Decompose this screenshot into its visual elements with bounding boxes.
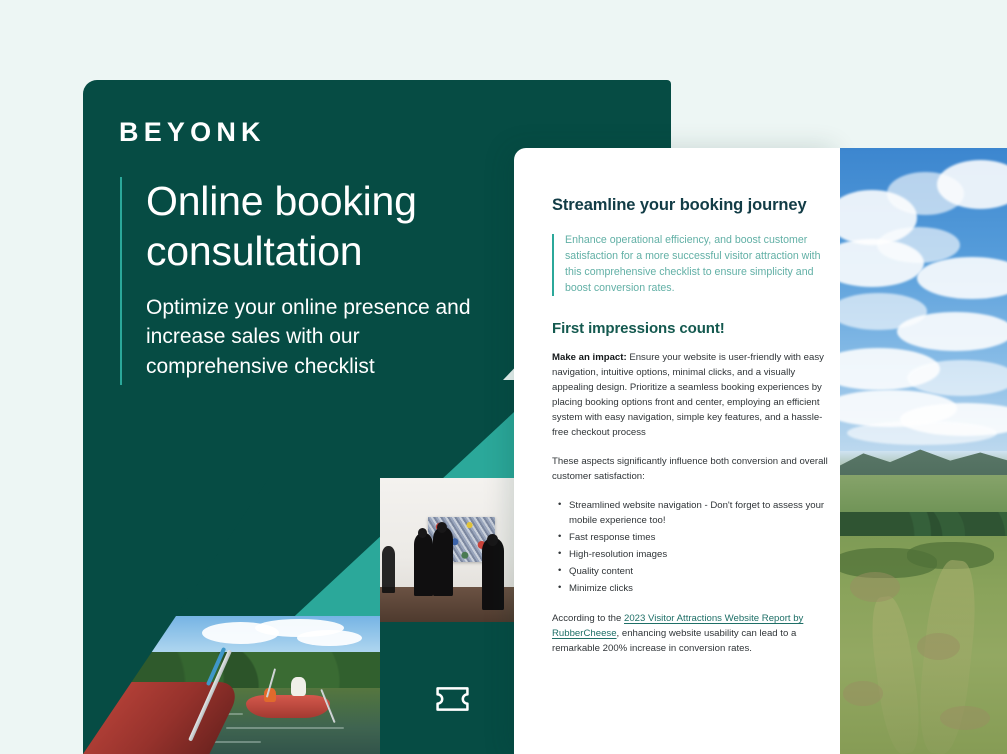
list-item: High-resolution images xyxy=(569,548,828,563)
page-title: Online booking consultation xyxy=(146,176,546,276)
benefits-list: Streamlined website navigation - Don't f… xyxy=(552,499,828,597)
document-content: Streamline your booking journey Enhance … xyxy=(552,194,828,671)
gallery-floor xyxy=(380,587,535,622)
dry-patch xyxy=(843,681,883,705)
dry-patch xyxy=(940,706,990,730)
screenshot-stage: BEYONK Online booking consultation Optim… xyxy=(0,0,1007,754)
dry-patch xyxy=(917,633,960,660)
quote-accent-bar xyxy=(552,234,554,296)
headline-accent-bar xyxy=(120,177,122,385)
water-ripple xyxy=(226,727,345,729)
gallery-visitor xyxy=(414,533,433,596)
gallery-visitor-head xyxy=(487,534,498,546)
citation-paragraph: According to the 2023 Visitor Attraction… xyxy=(552,612,828,657)
page-subtitle: Optimize your online presence and increa… xyxy=(146,293,506,381)
list-item: Streamlined website navigation - Don't f… xyxy=(569,499,828,529)
impact-paragraph: Make an impact: Ensure your website is u… xyxy=(552,351,828,441)
cloud-shape xyxy=(897,312,1007,351)
cloud-shape xyxy=(847,421,997,445)
beyonk-logo: BEYONK xyxy=(119,119,266,146)
gallery-visitor xyxy=(433,527,453,596)
far-canoe xyxy=(246,695,329,718)
gallery-visitor xyxy=(482,538,504,610)
gallery-visitor xyxy=(382,546,396,594)
document-heading: Streamline your booking journey xyxy=(552,194,828,218)
citation-prefix: According to the xyxy=(552,613,624,624)
ticket-icon xyxy=(435,686,470,712)
document-preview-panel: Streamline your booking journey Enhance … xyxy=(514,148,840,754)
callout-quote: Enhance operational efficiency, and boos… xyxy=(552,232,828,296)
gallery-photo xyxy=(380,478,535,622)
list-item: Fast response times xyxy=(569,531,828,546)
list-item: Minimize clicks xyxy=(569,582,828,597)
impact-body: Ensure your website is user-friendly wit… xyxy=(552,352,824,438)
landscape-photo xyxy=(840,148,1007,754)
aspects-intro: These aspects significantly influence bo… xyxy=(552,455,828,485)
list-item: Quality content xyxy=(569,565,828,580)
quote-text: Enhance operational efficiency, and boos… xyxy=(565,232,828,296)
paddler xyxy=(291,677,306,696)
impact-label: Make an impact: xyxy=(552,352,627,363)
cloud-shape xyxy=(877,227,961,263)
document-section-heading: First impressions count! xyxy=(552,320,828,337)
